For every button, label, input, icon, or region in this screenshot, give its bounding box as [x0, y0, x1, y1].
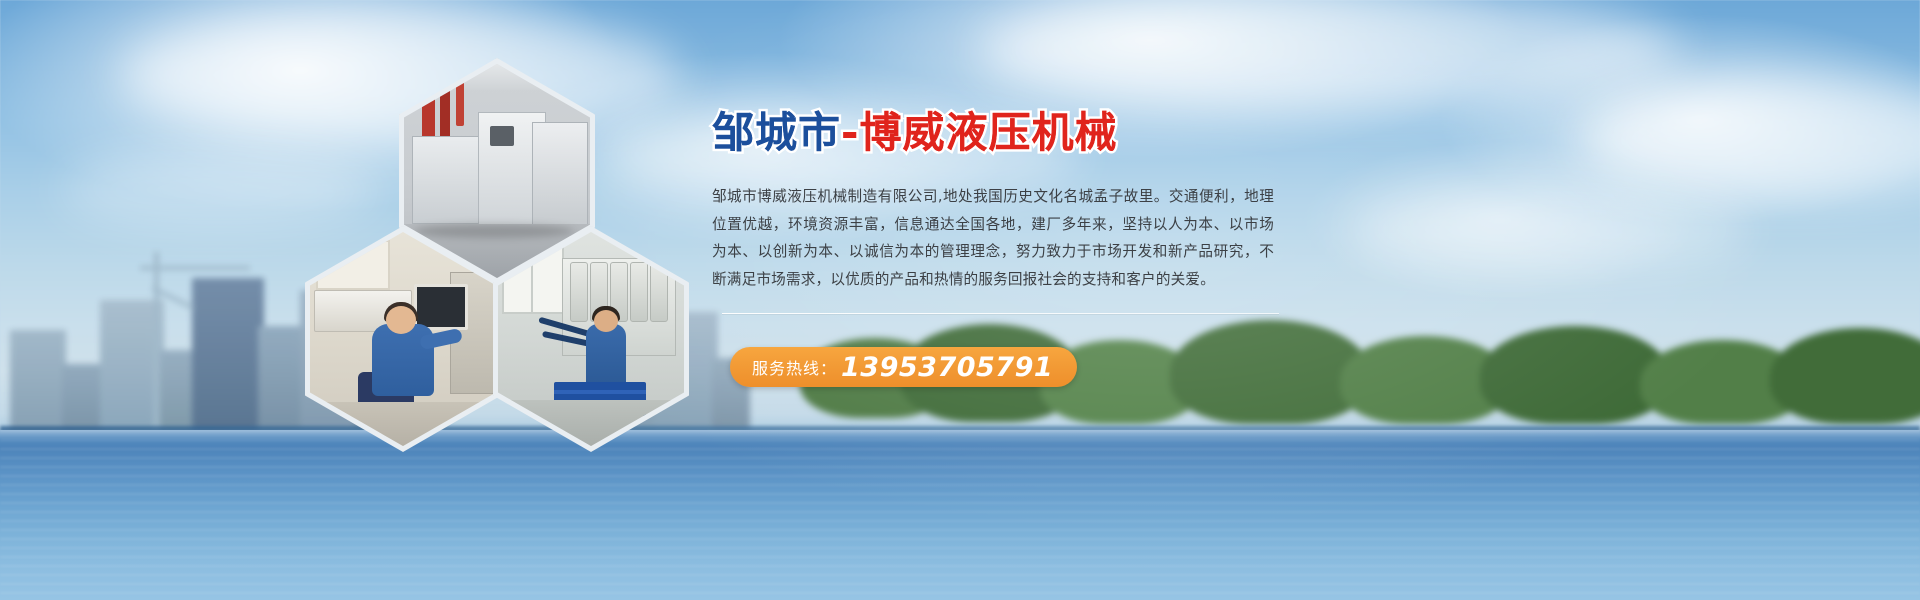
company-description: 邹城市博威液压机械制造有限公司,地处我国历史文化名城孟子故里。交通便利，地理位置…: [712, 183, 1274, 293]
hotline-label: 服务热线：: [752, 355, 837, 379]
page-title: 邹城市-博威液压机械: [712, 112, 1117, 154]
hex-photo-cluster: [305, 58, 700, 448]
hotline-button[interactable]: 服务热线： 13953705791: [730, 347, 1077, 387]
hero-banner: 邹城市-博威液压机械 邹城市-博威液压机械 邹城市博威液压机械制造有限公司,地处…: [0, 0, 1920, 600]
title-city: 邹城市: [712, 108, 841, 157]
banner-content: 邹城市-博威液压机械 邹城市-博威液压机械 邹城市博威液压机械制造有限公司,地处…: [712, 0, 1892, 600]
hotline-number: 13953705791: [841, 352, 1053, 383]
divider: [722, 313, 1279, 314]
title-company: -博威液压机械: [841, 108, 1117, 157]
